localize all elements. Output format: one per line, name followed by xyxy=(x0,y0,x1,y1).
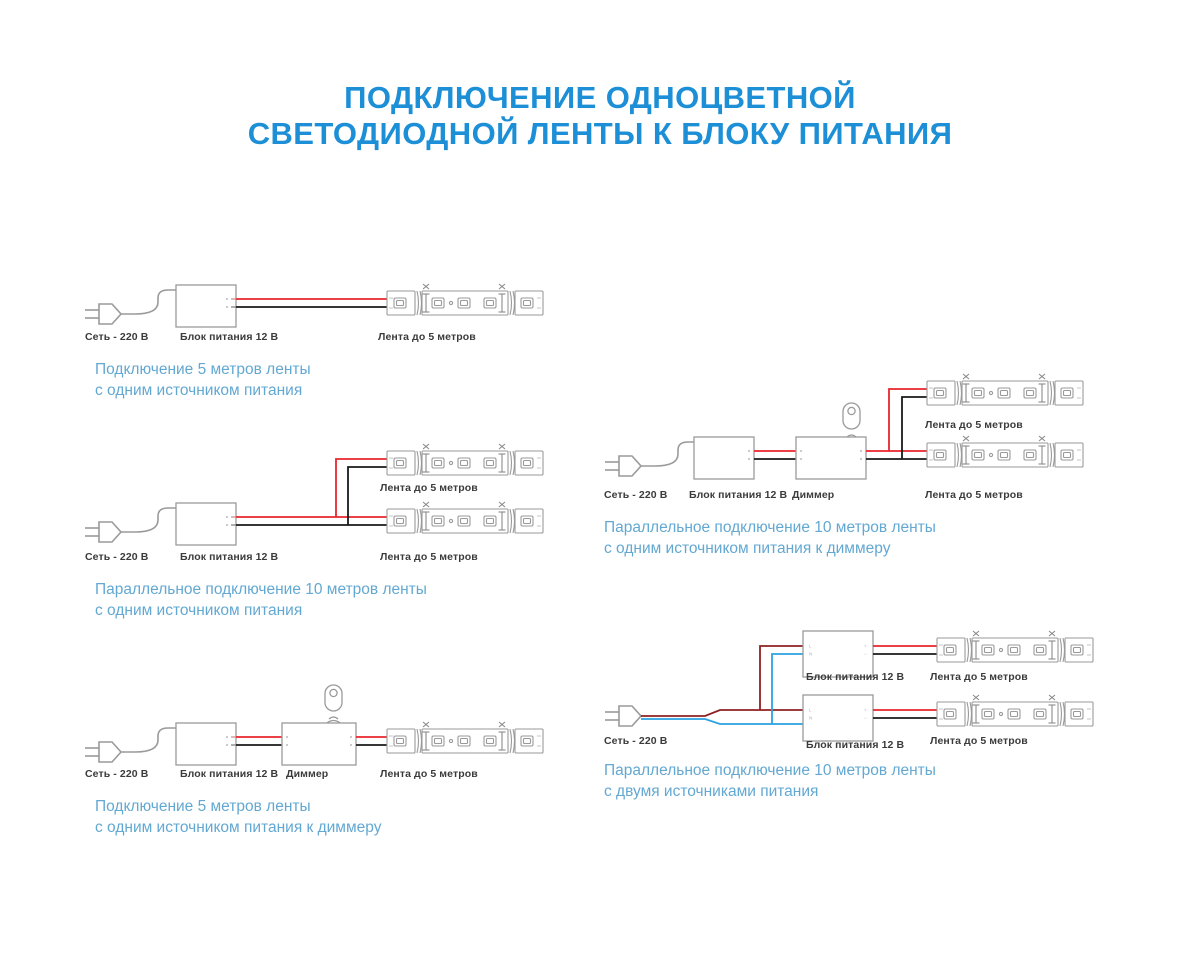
mains-plug-icon xyxy=(85,522,121,542)
svg-text:−: − xyxy=(864,652,867,657)
label-mains-d1: Сеть - 220 В xyxy=(85,331,148,343)
mains-plug-icon xyxy=(85,742,121,762)
diagram-single-strip-single-psu xyxy=(80,280,580,340)
label-psu-d4: Блок питания 12 В xyxy=(689,489,787,501)
led-strip xyxy=(387,722,543,753)
diagram-3-schematic xyxy=(80,680,580,780)
wire-neutral xyxy=(641,654,803,724)
svg-text:N: N xyxy=(809,652,812,657)
power-supply-box xyxy=(803,695,873,741)
title-line-2: СВЕТОДИОДНОЙ ЛЕНТЫ К БЛОКУ ПИТАНИЯ xyxy=(0,116,1200,152)
led-strip xyxy=(927,374,1083,405)
label-strip-d1: Лента до 5 метров xyxy=(378,331,476,343)
led-strip xyxy=(387,444,543,475)
label-strip-top-d5: Лента до 5 метров xyxy=(930,671,1028,683)
svg-text:N: N xyxy=(809,716,812,721)
caption-diagram-4: Параллельное подключение 10 метров ленты… xyxy=(604,517,936,559)
title-line-1: ПОДКЛЮЧЕНИЕ ОДНОЦВЕТНОЙ xyxy=(0,80,1200,116)
label-psu-bottom-d5: Блок питания 12 В xyxy=(806,739,904,751)
led-strip xyxy=(937,631,1093,662)
label-mains-d2: Сеть - 220 В xyxy=(85,551,148,563)
label-strip-top-d4: Лента до 5 метров xyxy=(925,419,1023,431)
caption-3-line-2: с одним источником питания к диммеру xyxy=(95,817,381,838)
wire-live xyxy=(641,646,803,716)
led-strip xyxy=(387,502,543,533)
caption-2-line-2: с одним источником питания xyxy=(95,600,427,621)
remote-control-icon xyxy=(843,403,860,442)
led-strip xyxy=(937,695,1093,726)
mains-plug-icon xyxy=(605,706,641,726)
mains-plug-icon xyxy=(85,304,121,324)
caption-1-line-1: Подключение 5 метров ленты xyxy=(95,359,311,380)
label-psu-d1: Блок питания 12 В xyxy=(180,331,278,343)
caption-diagram-5: Параллельное подключение 10 метров ленты… xyxy=(604,760,936,802)
wire-positive xyxy=(866,389,927,451)
caption-diagram-3: Подключение 5 метров ленты с одним источ… xyxy=(95,796,381,838)
diagram-two-strips-parallel-single-psu xyxy=(80,440,580,560)
infographic-page: ПОДКЛЮЧЕНИЕ ОДНОЦВЕТНОЙ СВЕТОДИОДНОЙ ЛЕН… xyxy=(0,0,1200,960)
diagram-2-schematic xyxy=(80,440,580,560)
led-strip xyxy=(387,284,543,315)
caption-5-line-1: Параллельное подключение 10 метров ленты xyxy=(604,760,936,781)
label-mains-d4: Сеть - 220 В xyxy=(604,489,667,501)
caption-1-line-2: с одним источником питания xyxy=(95,380,311,401)
svg-text:+: + xyxy=(864,708,867,713)
remote-control-icon xyxy=(325,685,342,724)
svg-text:−: − xyxy=(864,716,867,721)
diagram-single-strip-psu-dimmer xyxy=(80,680,580,780)
label-psu-d3: Блок питания 12 В xyxy=(180,768,278,780)
label-mains-d5: Сеть - 220 В xyxy=(604,735,667,747)
caption-3-line-1: Подключение 5 метров ленты xyxy=(95,796,381,817)
mains-cable xyxy=(641,442,694,466)
label-dimmer-d3: Диммер xyxy=(286,768,328,780)
label-dimmer-d4: Диммер xyxy=(792,489,834,501)
label-strip-bottom-d2: Лента до 5 метров xyxy=(380,551,478,563)
caption-4-line-1: Параллельное подключение 10 метров ленты xyxy=(604,517,936,538)
led-strip xyxy=(927,436,1083,467)
power-supply-box xyxy=(694,437,754,479)
diagram-4-schematic xyxy=(600,370,1120,495)
caption-2-line-1: Параллельное подключение 10 метров ленты xyxy=(95,579,427,600)
label-strip-bottom-d5: Лента до 5 метров xyxy=(930,735,1028,747)
dimmer-box xyxy=(282,723,356,765)
mains-cable xyxy=(121,728,176,752)
page-title: ПОДКЛЮЧЕНИЕ ОДНОЦВЕТНОЙ СВЕТОДИОДНОЙ ЛЕН… xyxy=(0,80,1200,152)
label-psu-top-d5: Блок питания 12 В xyxy=(806,671,904,683)
mains-cable xyxy=(121,508,176,532)
caption-4-line-2: с одним источником питания к диммеру xyxy=(604,538,936,559)
label-psu-d2: Блок питания 12 В xyxy=(180,551,278,563)
svg-text:+: + xyxy=(864,644,867,649)
caption-diagram-2: Параллельное подключение 10 метров ленты… xyxy=(95,579,427,621)
diagram-1-schematic xyxy=(80,280,580,340)
caption-diagram-1: Подключение 5 метров ленты с одним источ… xyxy=(95,359,311,401)
wire-negative xyxy=(866,397,927,459)
label-strip-bottom-d4: Лента до 5 метров xyxy=(925,489,1023,501)
diagram-two-strips-parallel-psu-dimmer xyxy=(600,370,1120,495)
mains-plug-icon xyxy=(605,456,641,476)
dimmer-box xyxy=(796,437,866,479)
label-strip-d3: Лента до 5 метров xyxy=(380,768,478,780)
label-strip-top-d2: Лента до 5 метров xyxy=(380,482,478,494)
label-mains-d3: Сеть - 220 В xyxy=(85,768,148,780)
caption-5-line-2: с двумя источниками питания xyxy=(604,781,936,802)
mains-cable xyxy=(121,290,176,314)
